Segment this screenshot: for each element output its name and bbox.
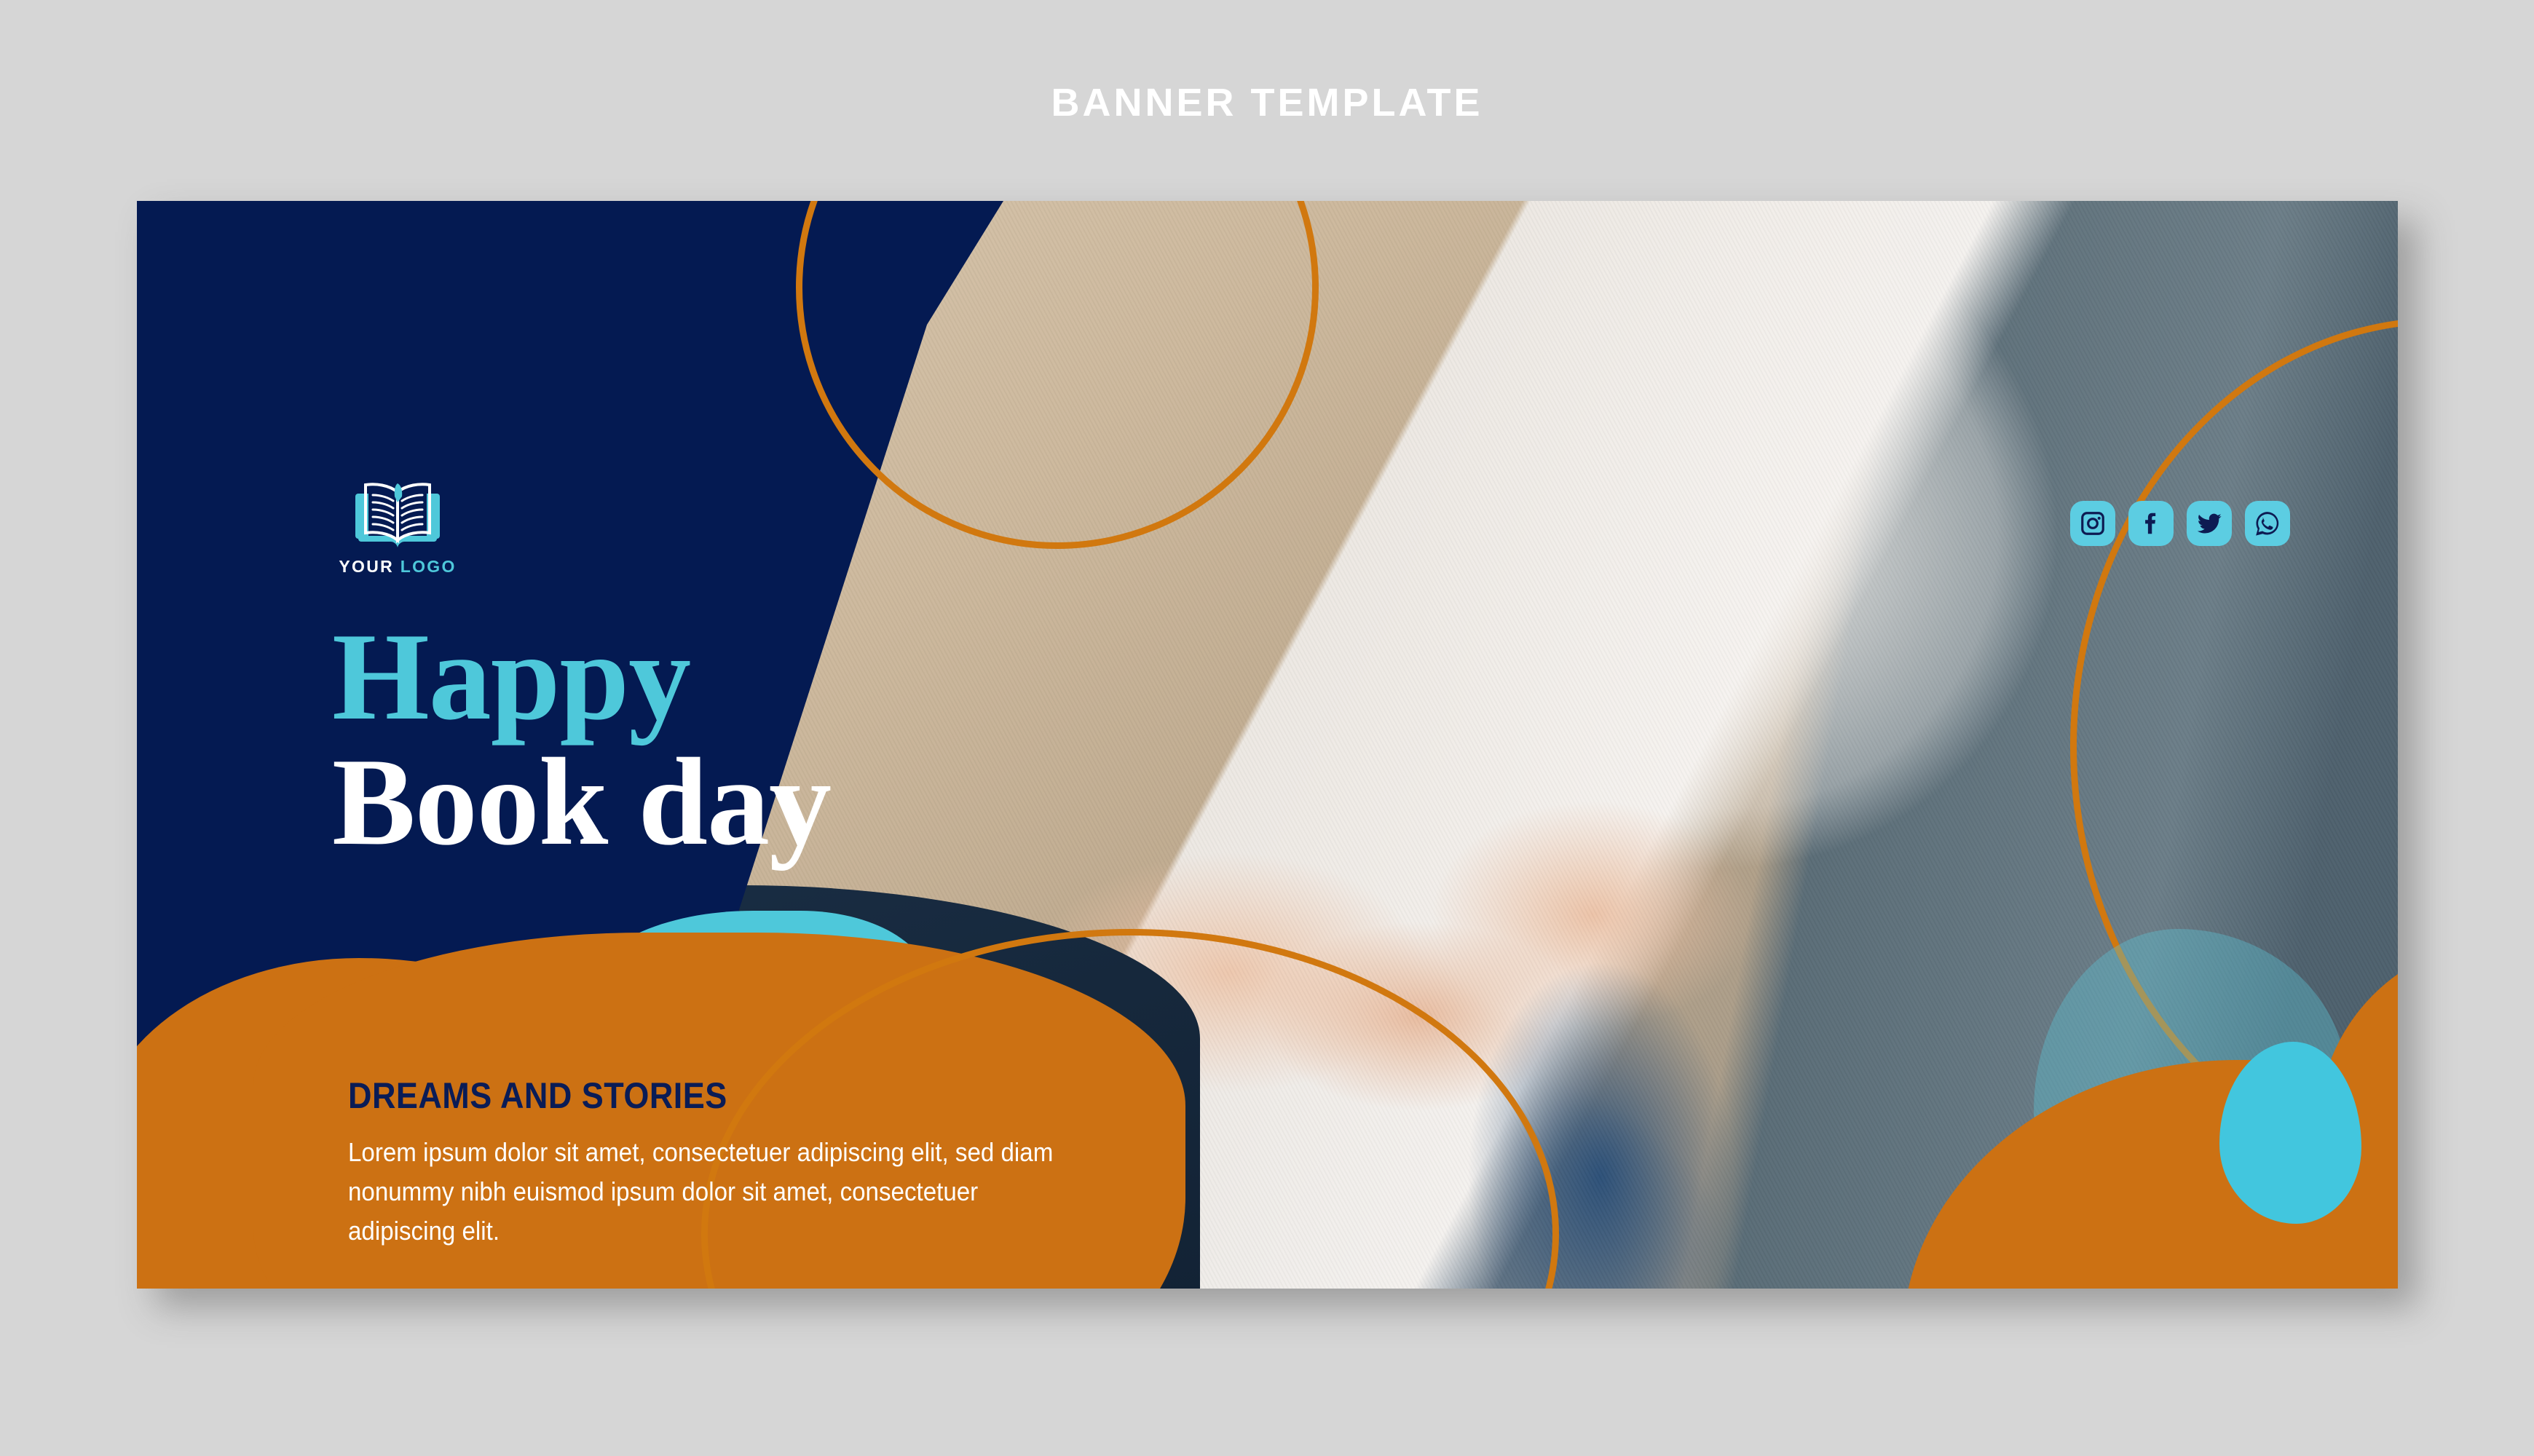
logo-text-accent: LOGO <box>400 557 457 576</box>
social-link-whatsapp[interactable] <box>2245 501 2290 546</box>
logo[interactable]: YOUR LOGO <box>332 476 463 575</box>
twitter-icon <box>2195 510 2223 537</box>
logo-text-primary: YOUR <box>339 557 394 576</box>
whatsapp-icon <box>2254 510 2281 537</box>
copy-block: DREAMS AND STORIES Lorem ipsum dolor sit… <box>348 1075 1120 1251</box>
headline-line-2: Book day <box>332 745 831 860</box>
social-link-twitter[interactable] <box>2187 501 2232 546</box>
social-link-facebook[interactable] <box>2128 501 2174 546</box>
instagram-icon <box>2079 510 2107 537</box>
open-book-icon <box>347 476 449 553</box>
facebook-icon <box>2137 510 2165 537</box>
social-links <box>2070 501 2290 546</box>
headline: Happy Book day <box>332 620 831 860</box>
page-title: BANNER TEMPLATE <box>0 80 2534 125</box>
copy-paragraph: Lorem ipsum dolor sit amet, consectetuer… <box>348 1133 1058 1251</box>
logo-text: YOUR LOGO <box>332 558 463 575</box>
copy-title: DREAMS AND STORIES <box>348 1075 1043 1117</box>
banner-card: YOUR LOGO Happy Book day DREAMS AND STOR… <box>137 201 2398 1289</box>
social-link-instagram[interactable] <box>2070 501 2115 546</box>
headline-line-1: Happy <box>332 620 831 735</box>
